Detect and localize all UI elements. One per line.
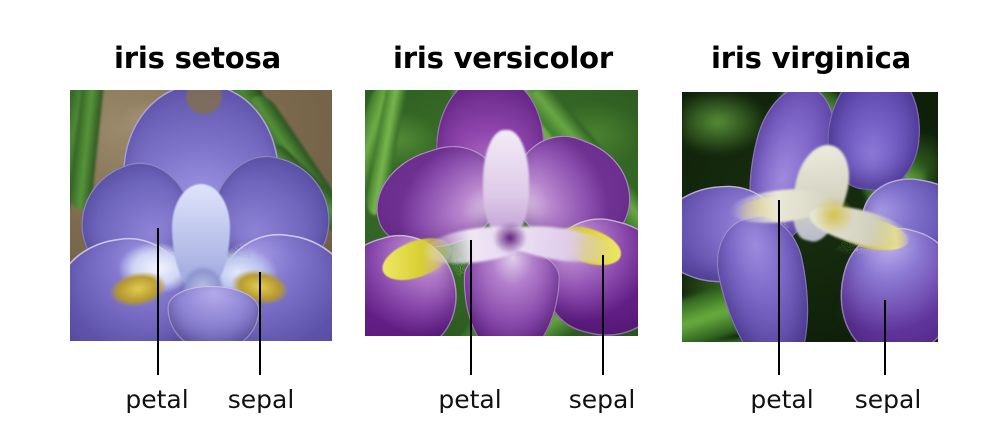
flower-sepal	[166, 284, 260, 341]
iris-flower-versicolor	[365, 90, 638, 336]
leader-line-sepal	[602, 255, 604, 375]
annotation-label-petal: petal	[410, 387, 530, 412]
leader-line-petal	[470, 240, 472, 375]
leader-line-petal	[157, 228, 159, 375]
annotation-label-sepal: sepal	[828, 387, 948, 412]
leader-line-sepal	[884, 300, 886, 375]
panel-title-versicolor: iris versicolor	[340, 44, 666, 73]
iris-flower-setosa	[70, 90, 332, 341]
iris-figure: iris setosa	[0, 0, 1000, 447]
photo-iris-setosa	[70, 90, 332, 341]
flower-center	[493, 222, 527, 254]
photo-iris-versicolor	[365, 90, 638, 336]
flower-center	[814, 196, 854, 234]
panel-iris-virginica: iris virginica	[665, 0, 1000, 447]
photo-iris-virginica	[682, 92, 938, 342]
panel-iris-setosa: iris setosa	[0, 0, 340, 447]
annotation-label-sepal: sepal	[542, 387, 662, 412]
iris-flower-virginica	[682, 92, 938, 342]
annotation-label-petal: petal	[97, 387, 217, 412]
leader-line-sepal	[259, 272, 261, 375]
annotation-label-petal: petal	[722, 387, 842, 412]
panel-title-virginica: iris virginica	[665, 44, 957, 73]
panel-iris-versicolor: iris versicolor	[340, 0, 665, 447]
leader-line-petal	[778, 200, 780, 375]
annotation-label-sepal: sepal	[201, 387, 321, 412]
panel-title-setosa: iris setosa	[0, 44, 395, 73]
